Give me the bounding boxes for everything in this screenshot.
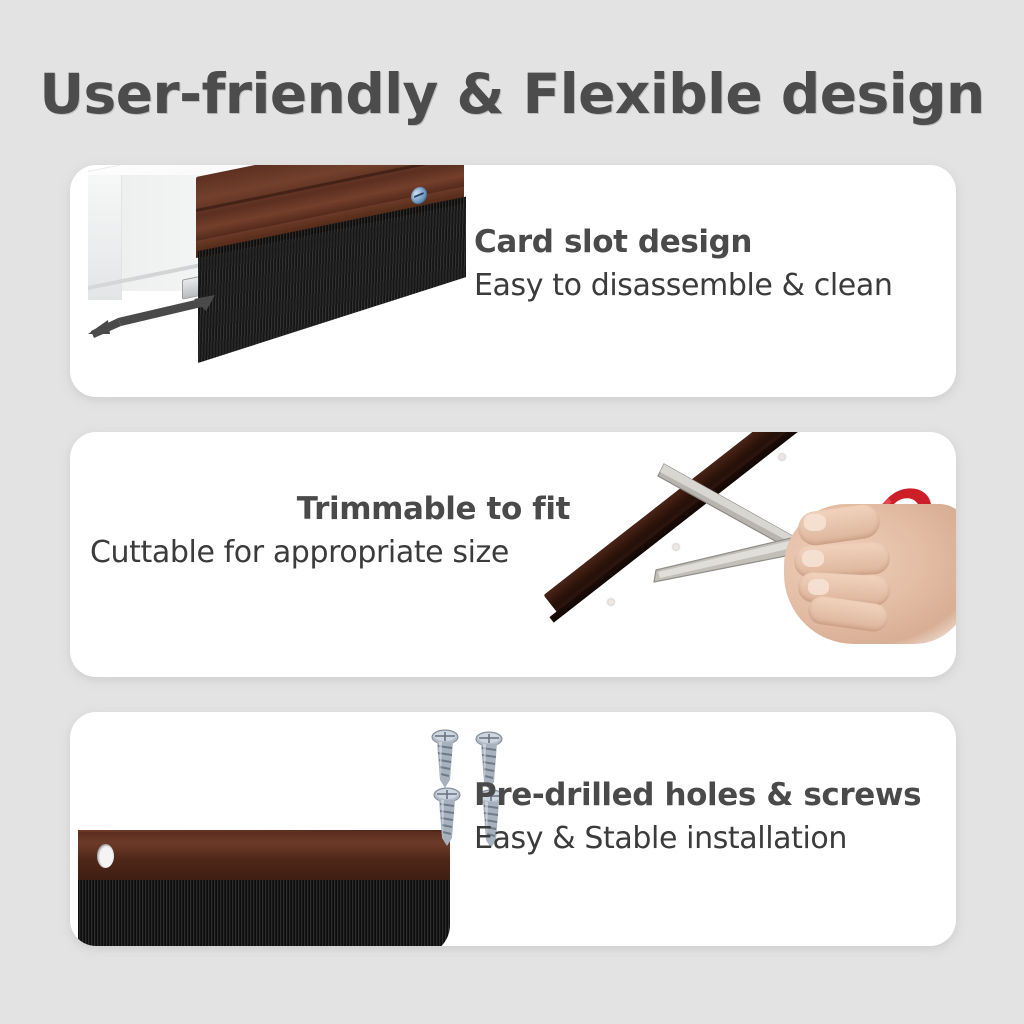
card1-heading: Card slot design [474,225,892,261]
fingernail [808,579,829,595]
brown-strip-body [78,832,450,882]
card2-heading: Trimmable to fit [90,492,570,528]
card2-text-block: Trimmable to fit Cuttable for appropriat… [90,492,570,571]
page-title: User-friendly & Flexible design [0,62,1024,126]
card3-text-block: Pre-drilled holes & screws Easy & Stable… [474,778,921,857]
illustration-door-sweep-insert [70,165,490,397]
pre-drilled-hole [97,844,114,868]
illustration-strip-with-screws [70,712,500,946]
fingernail [802,550,824,567]
screw-icon [430,728,460,790]
card1-subtext: Easy to disassemble & clean [474,267,892,305]
card1-text-block: Card slot design Easy to disassemble & c… [474,225,892,304]
card2-subtext: Cuttable for appropriate size [90,534,570,572]
illustration-cutting-strip [536,432,956,677]
infographic-page: User-friendly & Flexible design [0,0,1024,1024]
fingernail [804,514,826,531]
pre-drilled-hole [608,599,614,605]
card3-heading: Pre-drilled holes & screws [474,778,921,814]
card3-subtext: Easy & Stable installation [474,820,921,858]
screw-icon [432,786,462,848]
slide-direction-arrow-icon [88,293,218,341]
feature-card-trimmable-to-fit[interactable]: Trimmable to fit Cuttable for appropriat… [70,432,956,677]
brush-bristles [78,880,450,946]
feature-card-card-slot-design[interactable]: Card slot design Easy to disassemble & c… [70,165,956,397]
feature-card-pre-drilled-holes[interactable]: Pre-drilled holes & screws Easy & Stable… [70,712,956,946]
